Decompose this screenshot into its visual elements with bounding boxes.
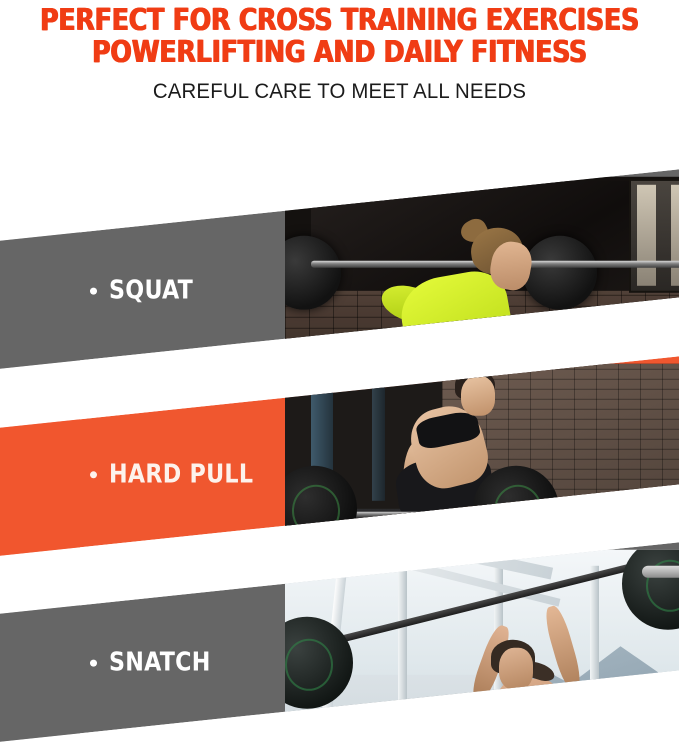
exercise-band-list: SQUAT HARD PULL	[0, 120, 679, 722]
bullet-dot-icon	[90, 659, 97, 666]
barbell-plate-right	[523, 236, 597, 310]
atrium-post	[590, 565, 599, 745]
band-label-hard-pull: HARD PULL	[90, 459, 261, 489]
barbell-plate-right	[473, 466, 559, 552]
band-label-squat: SQUAT	[90, 276, 197, 306]
exercise-band-hard-pull: HARD PULL	[0, 352, 679, 560]
headline-line-1: PERFECT FOR CROSS TRAINING EXERCISES	[20, 5, 658, 37]
band-photo-veil	[0, 372, 80, 560]
subheadline: CAREFUL CARE TO MEET ALL NEEDS	[10, 80, 669, 104]
barbell-sleeve	[642, 566, 679, 578]
band-photo-squat	[285, 177, 679, 373]
band-label-snatch: SNATCH	[90, 648, 216, 678]
gym-rig-right	[372, 364, 385, 501]
band-photo-veil	[0, 558, 80, 746]
athlete-head	[461, 376, 495, 416]
band-photo-snatch	[285, 550, 679, 746]
gym-window	[629, 179, 679, 293]
athlete-torso	[497, 679, 559, 743]
band-photo-veil	[0, 185, 80, 373]
athlete-head	[499, 648, 533, 690]
exercise-band-snatch: SNATCH	[0, 538, 679, 746]
atrium-post	[398, 565, 407, 745]
exercise-band-squat: SQUAT	[0, 165, 679, 373]
bullet-dot-icon	[90, 287, 97, 294]
band-label-text: SNATCH	[109, 648, 211, 678]
header: PERFECT FOR CROSS TRAINING EXERCISES POW…	[0, 0, 679, 120]
band-label-text: HARD PULL	[109, 459, 253, 489]
athlete-legs	[401, 338, 490, 372]
band-photo-hard-pull	[285, 364, 679, 560]
band-label-text: SQUAT	[109, 276, 193, 306]
headline-line-2: POWERLIFTING AND DAILY FITNESS	[20, 37, 658, 69]
barbell-plate-left	[285, 466, 357, 552]
bullet-dot-icon	[90, 471, 97, 478]
